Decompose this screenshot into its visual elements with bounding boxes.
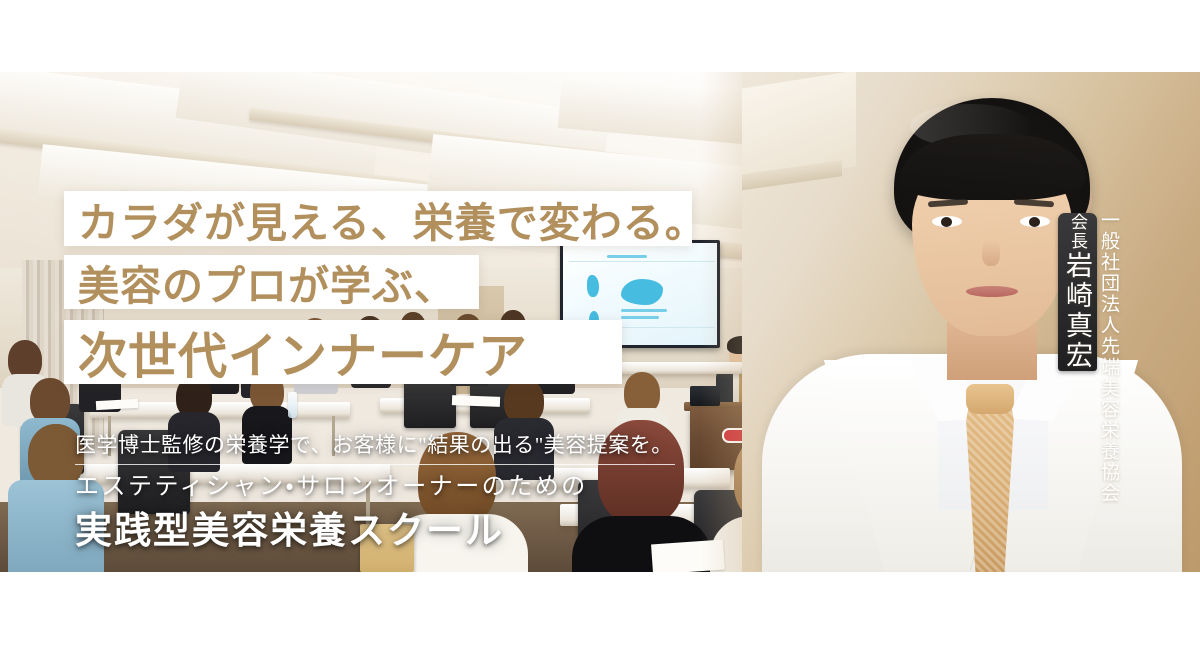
headline-band-1: カラダが見える、栄養で変わる。 [64, 191, 692, 246]
handout [452, 395, 500, 407]
page-root: 医学博士監修の栄養学で、お客様に"結果の出る"美容提案を。 エステティシャン・サ… [0, 0, 1200, 650]
water-bottle [288, 392, 297, 418]
chairman-credit: 会長岩崎真宏 [1058, 213, 1097, 371]
paper-bag [360, 524, 414, 572]
chairman-name: 岩崎真宏 [1062, 251, 1092, 371]
eye-right [1020, 216, 1050, 227]
headline-line-3: 次世代インナーケア [78, 317, 528, 388]
hair-fringe [900, 134, 1086, 200]
hero-banner: 医学博士監修の栄養学で、お客様に"結果の出る"美容提案を。 エステティシャン・サ… [0, 72, 1200, 572]
headline-line-2: 美容のプロが学ぶ、 [78, 252, 456, 312]
chairman-portrait [742, 72, 1200, 572]
table-leg [108, 416, 111, 456]
table [60, 464, 390, 484]
nose [982, 240, 1000, 266]
eye-left [932, 216, 962, 227]
association-name: 一般社団法人先端美容栄養協会 [1095, 210, 1122, 504]
necktie-knot [966, 384, 1014, 414]
table-leg [366, 482, 370, 528]
headline-line-1: カラダが見える、栄養で変わる。 [78, 189, 707, 249]
headline-band-3: 次世代インナーケア [64, 320, 622, 384]
headline-band-2: 美容のプロが学ぶ、 [64, 255, 479, 309]
chairman-role: 会長 [1068, 213, 1087, 251]
table-leg [332, 416, 335, 456]
mouth [966, 286, 1018, 297]
